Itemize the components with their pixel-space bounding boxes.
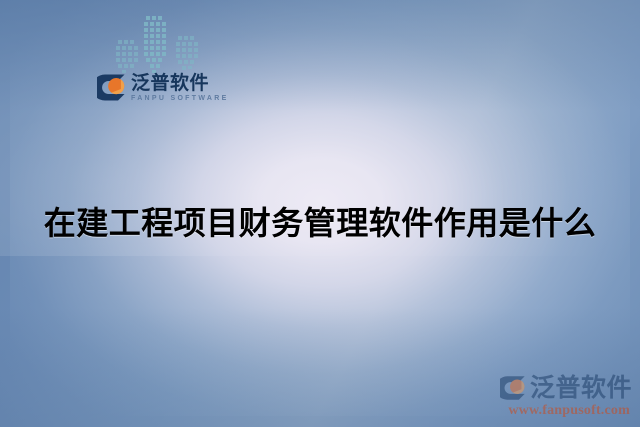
promo-banner: 泛普软件 FANPU SOFTWARE 在建工程项目财务管理软件作用是什么 泛普…: [0, 0, 640, 427]
brand-wordmark: 泛普软件 FANPU SOFTWARE: [131, 74, 229, 102]
watermark: 泛普软件 www.fanpusoft.com: [480, 375, 632, 419]
page-title: 在建工程项目财务管理软件作用是什么: [0, 198, 640, 244]
brand-name-en: FANPU SOFTWARE: [131, 95, 229, 102]
fanpu-hexagon-swoosh-icon: [97, 73, 126, 102]
watermark-logo: 泛普软件: [480, 375, 632, 401]
brand-logo: 泛普软件 FANPU SOFTWARE: [97, 73, 229, 102]
watermark-url: www.fanpusoft.com: [480, 403, 632, 419]
watermark-name-cn: 泛普软件: [530, 376, 632, 401]
fanpu-hexagon-swoosh-icon: [500, 375, 526, 401]
brand-name-cn: 泛普软件: [131, 74, 229, 93]
pixel-city-skyline-icon: [100, 10, 212, 74]
